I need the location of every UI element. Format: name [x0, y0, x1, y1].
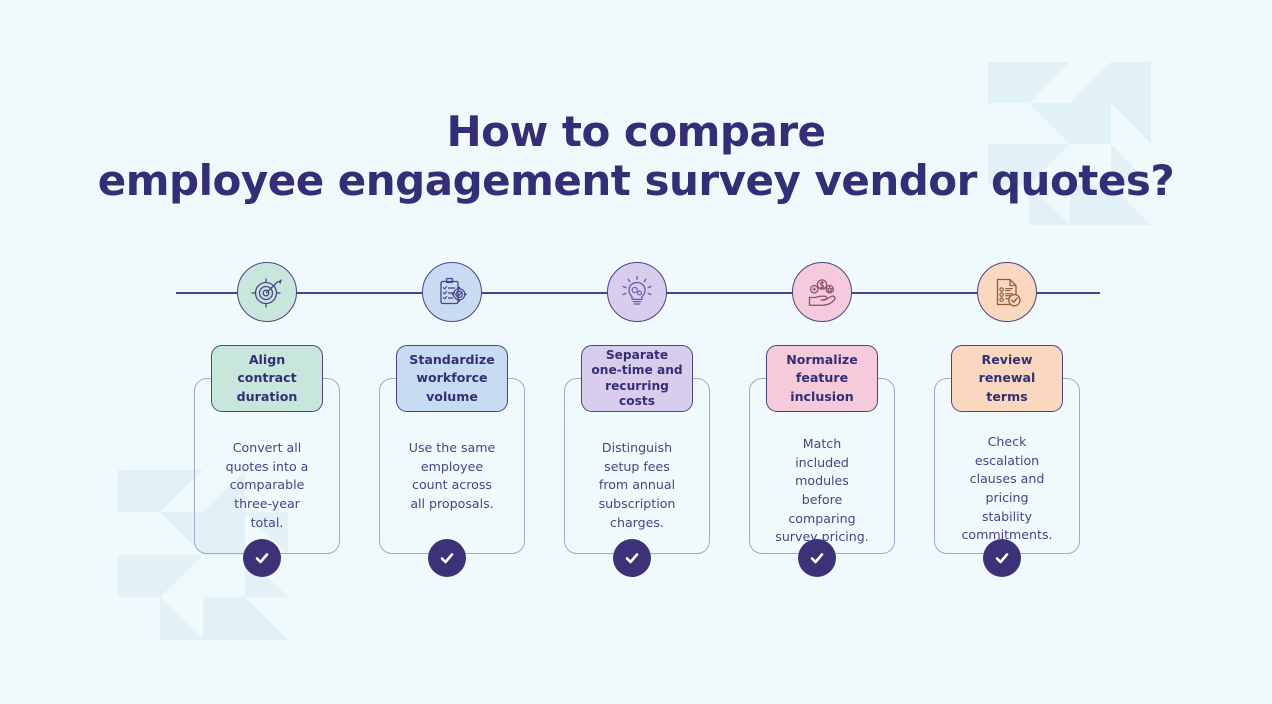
stage-body-text-1: Convert all quotes into a comparable thr…	[199, 439, 335, 532]
stage-label-5: Review renewal terms	[951, 345, 1063, 412]
stage-label-text-4: Normalize feature inclusion	[786, 351, 858, 405]
stage-label-1: Align contract duration	[211, 345, 323, 412]
stage-label-text-5: Review renewal terms	[979, 351, 1036, 405]
stage-label-3: Separate one-time and recurring costs	[581, 345, 693, 412]
stage-body-3: Distinguish setup fees from annual subsc…	[569, 439, 705, 532]
stage-body-text-5: Check escalation clauses and pricing sta…	[939, 433, 1075, 545]
stage-icon-circle-2	[422, 262, 482, 322]
check-icon	[992, 548, 1012, 568]
stage-check-badge-5	[983, 539, 1021, 577]
stage-label-4: Normalize feature inclusion	[766, 345, 878, 412]
stage-icon-circle-3	[607, 262, 667, 322]
stage-body-4: Match included modules before comparing …	[754, 435, 890, 547]
stage-body-2: Use the same employee count across all p…	[384, 439, 520, 514]
stage-label-text-1: Align contract duration	[237, 351, 298, 405]
page-title: How to compare employee engagement surve…	[0, 108, 1272, 205]
stage-body-text-3: Distinguish setup fees from annual subsc…	[569, 439, 705, 532]
document-check-icon	[990, 275, 1024, 309]
stage-body-1: Convert all quotes into a comparable thr…	[199, 439, 335, 532]
check-icon	[807, 548, 827, 568]
stage-body-5: Check escalation clauses and pricing sta…	[939, 433, 1075, 545]
title-line-1: How to compare	[0, 108, 1272, 157]
stage-check-badge-2	[428, 539, 466, 577]
stage-body-text-4: Match included modules before comparing …	[754, 435, 890, 547]
stage-check-badge-4	[798, 539, 836, 577]
target-arrow-icon	[250, 275, 284, 309]
clipboard-checklist-gear-icon	[435, 275, 469, 309]
stage-label-2: Standardize workforce volume	[396, 345, 508, 412]
stage-label-text-2: Standardize workforce volume	[409, 351, 494, 405]
stage-check-badge-3	[613, 539, 651, 577]
stage-icon-circle-4	[792, 262, 852, 322]
check-icon	[252, 548, 272, 568]
stage-check-badge-1	[243, 539, 281, 577]
stage-icon-circle-1	[237, 262, 297, 322]
stage-icon-circle-5	[977, 262, 1037, 322]
title-line-2: employee engagement survey vendor quotes…	[0, 157, 1272, 206]
lightbulb-gears-icon	[620, 275, 654, 309]
check-icon	[437, 548, 457, 568]
stage-label-text-3: Separate one-time and recurring costs	[591, 348, 682, 410]
check-icon	[622, 548, 642, 568]
hand-coins-icon	[805, 275, 839, 309]
stage-body-text-2: Use the same employee count across all p…	[384, 439, 520, 514]
